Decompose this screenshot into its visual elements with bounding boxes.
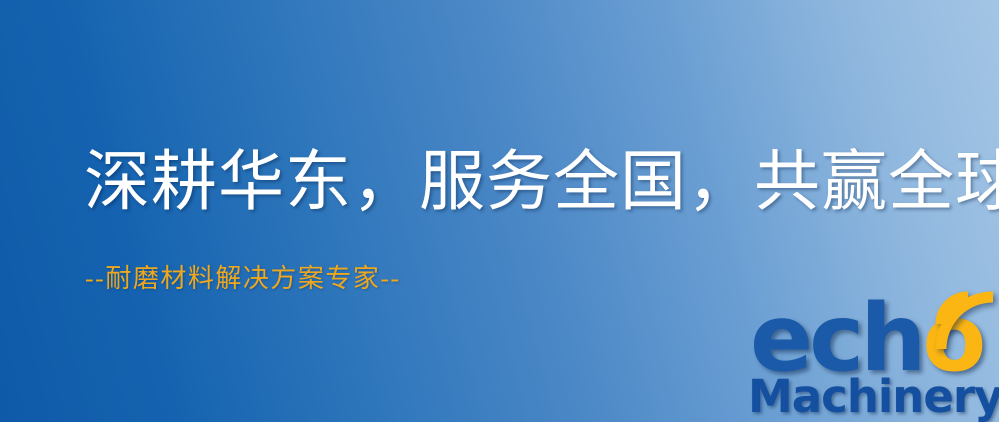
banner-subtitle: --耐磨材料解决方案专家-- (85, 266, 401, 292)
signal-waves-icon (932, 288, 999, 358)
logo-tagline: Machinery® (748, 374, 999, 419)
logo-tagline-text: Machinery (748, 370, 999, 422)
company-logo: echo Machinery® (744, 292, 999, 422)
banner-headline: 深耕华东，服务全国，共赢全球 (84, 150, 999, 216)
hero-banner: 深耕华东，服务全国，共赢全球 --耐磨材料解决方案专家-- echo Machi… (0, 0, 999, 422)
